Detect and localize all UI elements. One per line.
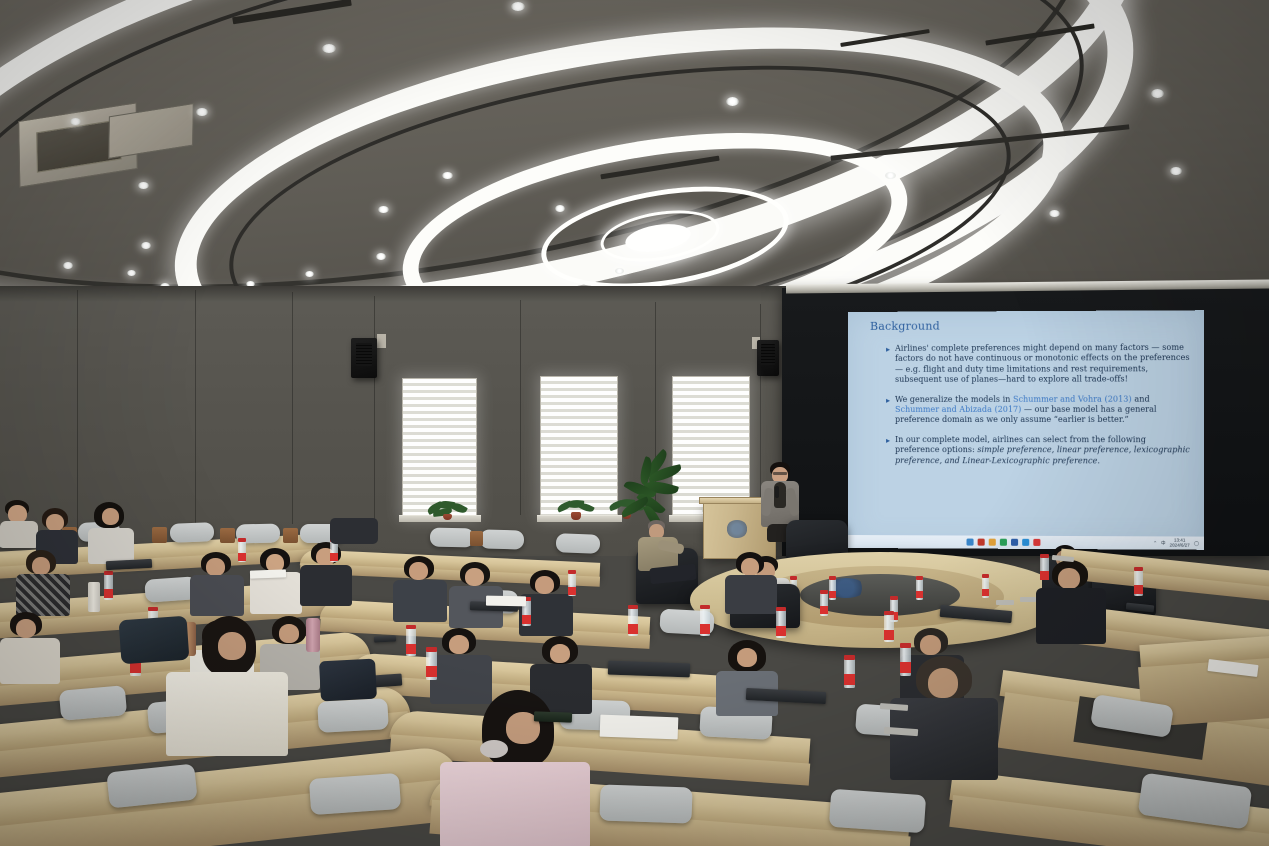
- folder-icon[interactable]: [989, 539, 996, 546]
- downlight-17: [1170, 167, 1182, 175]
- bottle-cap-icon: [829, 576, 836, 580]
- bullet-1-text: Airlines' complete preferences might dep…: [895, 343, 1192, 386]
- hair-scrunchie: [480, 740, 508, 758]
- bottle-cap-icon: [238, 538, 246, 542]
- taskbar-clock[interactable]: 13:41 2024/6/27: [1170, 538, 1190, 547]
- bottle-label: [104, 589, 113, 598]
- head: [928, 668, 958, 698]
- windows-taskbar[interactable]: ⌃ 中 13:41 2024/6/27 ◯: [848, 535, 1204, 550]
- torso: [166, 672, 288, 756]
- torso: [16, 574, 70, 616]
- conference-microphone: [996, 600, 1014, 605]
- plant-pot: [443, 514, 452, 520]
- window-left: [402, 378, 477, 518]
- presenter-glasses: [773, 472, 787, 475]
- chair: [309, 773, 401, 815]
- file-explorer-icon[interactable]: [967, 539, 974, 546]
- bottle-label: [1134, 585, 1143, 594]
- chair-armrest-wood: [283, 528, 298, 543]
- wall-seam-4: [374, 296, 375, 521]
- head: [46, 514, 64, 531]
- head: [741, 558, 759, 576]
- potted-plant-center: [556, 498, 598, 520]
- bottle-label: [330, 553, 338, 561]
- bottle-label: [916, 591, 923, 598]
- chair: [317, 698, 389, 733]
- bottle-label: [522, 615, 531, 624]
- show-hidden-icons-chevron[interactable]: ⌃: [1153, 540, 1157, 546]
- downlight-14: [555, 205, 565, 212]
- downlight-5: [141, 242, 151, 249]
- bottle-cap-icon: [916, 576, 923, 580]
- window-blinds-center: [541, 377, 617, 517]
- downlight-15: [726, 97, 739, 106]
- audience-member: [0, 612, 62, 684]
- head: [550, 644, 570, 663]
- slide-bullet-3: ▸ In our complete model, airlines can se…: [886, 435, 1192, 467]
- citation-link-schummer-vohra[interactable]: Schummer and Vohra (2013): [1013, 394, 1132, 403]
- head: [920, 635, 941, 655]
- taskbar-clock-date: 2024/6/27: [1170, 542, 1190, 547]
- torso: [0, 521, 38, 548]
- bottle-label: [844, 674, 855, 685]
- audience-member: [248, 548, 304, 614]
- open-notebook: [600, 715, 679, 740]
- wall-speaker-left: [351, 338, 377, 378]
- head: [16, 619, 36, 638]
- bottle-label: [1040, 571, 1049, 580]
- torso: [88, 528, 134, 564]
- bottle-label: [406, 644, 416, 654]
- downlight-2: [511, 2, 525, 11]
- bottle-cap-icon: [148, 607, 158, 611]
- chair: [556, 533, 601, 554]
- notification-center-icon[interactable]: ◯: [1194, 540, 1199, 546]
- downlight-13: [305, 271, 314, 277]
- bottle-label: [829, 591, 836, 598]
- audience-member-foreground-pink: [440, 690, 600, 846]
- bottle-cap-icon: [628, 605, 638, 609]
- wall-seam-5: [520, 300, 521, 515]
- audience-member: [300, 542, 354, 606]
- torso: [393, 580, 447, 622]
- bullet-marker-icon: ▸: [886, 435, 890, 466]
- seated-attendee-front: [636, 520, 696, 584]
- slide-title: Background: [870, 320, 940, 333]
- chair-armrest-wood: [152, 527, 167, 543]
- bottle-cap-icon: [104, 571, 113, 575]
- taskbar-system-tray[interactable]: ⌃ 中 13:41 2024/6/27 ◯: [1153, 538, 1199, 548]
- bullet-3-text: In our complete model, airlines can sele…: [895, 435, 1192, 467]
- bottle-label: [700, 624, 710, 634]
- bottle-label: [982, 589, 989, 596]
- bottle-cap-icon: [982, 574, 989, 578]
- downlight-20: [70, 118, 81, 125]
- slide-body: ▸ Airlines' complete preferences might d…: [886, 343, 1192, 476]
- chair: [170, 522, 215, 543]
- lectern-logo: [726, 520, 748, 538]
- slide-bullet-2: ▸ We generalize the models in Schummer a…: [886, 394, 1192, 426]
- laptop: [608, 661, 690, 678]
- citation-link-schummer-abizada[interactable]: Schummer and Abizada (2017): [895, 405, 1021, 414]
- downlight-4: [138, 182, 149, 189]
- adobe-acrobat-icon[interactable]: [978, 539, 985, 546]
- torso: [440, 762, 590, 846]
- presentation-slide[interactable]: Background ▸ Airlines' complete preferen…: [848, 310, 1204, 550]
- ceiling: [0, 0, 1269, 300]
- chair: [480, 529, 524, 549]
- head: [218, 632, 246, 660]
- bottle-label: [130, 662, 141, 673]
- chair-armrest-wood: [220, 528, 235, 543]
- audience-member: [86, 502, 136, 564]
- wall-seam-1: [77, 290, 78, 530]
- bottle-cap-icon: [776, 607, 786, 611]
- notebook-page: [250, 569, 286, 578]
- downlight-12: [376, 253, 386, 260]
- taskbar-app-icons[interactable]: [967, 539, 1041, 546]
- bullet-marker-icon: ▸: [886, 395, 890, 426]
- slide-bullet-1: ▸ Airlines' complete preferences might d…: [886, 343, 1192, 386]
- downlight-10: [378, 206, 389, 213]
- chair-armrest-wood: [470, 531, 483, 546]
- torso: [725, 575, 777, 614]
- conference-microphone: [1020, 597, 1036, 602]
- downlight-16: [1151, 89, 1164, 98]
- bottle-label: [568, 587, 576, 595]
- bottle-cap-icon: [890, 596, 898, 600]
- audience-member: [392, 556, 448, 622]
- bullet-2-text: We generalize the models in Schummer and…: [895, 394, 1192, 426]
- head: [409, 562, 428, 580]
- downlight-1: [322, 44, 336, 53]
- head: [449, 635, 469, 654]
- thermos-flask-dark: [88, 582, 100, 612]
- downlight-11: [442, 172, 453, 179]
- bottle-label: [628, 624, 638, 634]
- downlight-21: [615, 268, 624, 274]
- head: [102, 508, 119, 525]
- wall-speaker-right: [757, 340, 779, 376]
- bottle-cap-icon: [1134, 567, 1143, 571]
- window-blinds-left: [403, 379, 476, 517]
- bag: [330, 518, 378, 544]
- bullet-marker-icon: ▸: [886, 344, 890, 386]
- plant-pot: [571, 512, 581, 520]
- presenter-microphone: [775, 486, 779, 498]
- bottle-cap-icon: [844, 655, 855, 660]
- torso: [190, 575, 244, 616]
- downlight-8: [127, 270, 136, 276]
- chair: [430, 528, 474, 548]
- torso: [300, 565, 352, 606]
- window-center: [540, 376, 618, 518]
- downlight-18: [1049, 210, 1060, 217]
- bottle-cap-icon: [426, 647, 437, 652]
- downlight-19: [885, 172, 896, 179]
- chair: [599, 784, 692, 823]
- input-method-indicator[interactable]: 中: [1161, 540, 1166, 546]
- audience-member: [716, 640, 780, 716]
- head: [535, 576, 554, 594]
- bottle-label: [884, 630, 894, 640]
- plant-leaf: [450, 501, 468, 516]
- handbag: [319, 659, 377, 702]
- bottle-cap-icon: [884, 611, 894, 615]
- head: [206, 558, 225, 576]
- audience-member: [724, 552, 778, 614]
- powerpoint-icon[interactable]: [1011, 539, 1018, 546]
- bottle-cap-icon: [700, 605, 710, 609]
- head: [737, 648, 757, 667]
- bottle-cap-icon: [820, 590, 828, 594]
- downlight-3: [196, 108, 208, 116]
- smartphone: [374, 635, 396, 642]
- torso: [0, 638, 60, 684]
- chair: [59, 685, 127, 721]
- bottle-label: [426, 666, 437, 677]
- head: [1058, 568, 1080, 589]
- chair: [829, 789, 926, 834]
- head: [32, 557, 50, 575]
- smartphone: [534, 711, 572, 722]
- bottle-cap-icon: [1040, 554, 1049, 558]
- downlight-7: [63, 262, 73, 269]
- thermos-flask-pink: [306, 618, 320, 652]
- edge-browser-icon[interactable]: [1022, 539, 1029, 546]
- notebook-page: [486, 596, 526, 607]
- lecture-hall-photo: Background ▸ Airlines' complete preferen…: [0, 0, 1269, 846]
- bottle-cap-icon: [406, 625, 416, 629]
- audience-member: [0, 500, 40, 548]
- backpack: [119, 616, 190, 665]
- bottle-label: [776, 626, 786, 636]
- bottle-cap-icon: [900, 643, 911, 648]
- wall-seam-3: [292, 292, 293, 524]
- head: [465, 568, 484, 586]
- bottle-label: [900, 662, 911, 673]
- audience-member: [16, 550, 72, 616]
- chrome-browser-icon[interactable]: [1000, 539, 1007, 546]
- torso: [1036, 588, 1106, 644]
- wall-seam-2: [195, 290, 196, 528]
- bottle-label: [238, 553, 246, 561]
- bottle-cap-icon: [568, 570, 576, 574]
- attendee-legs: [649, 564, 696, 585]
- bottle-label: [820, 606, 828, 614]
- speaker-bracket-left: [377, 334, 386, 348]
- potted-plant-left: [425, 500, 471, 520]
